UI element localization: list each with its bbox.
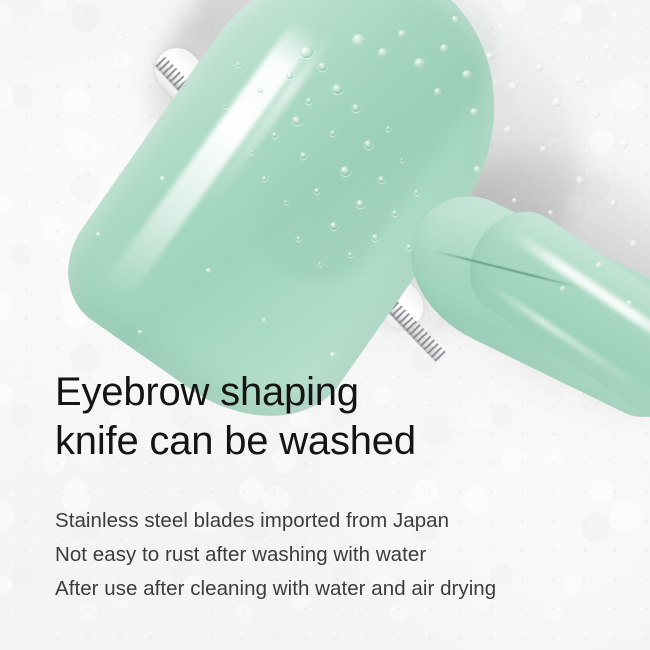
marketing-copy: Eyebrow shaping knife can be washed Stai… [55,368,615,606]
feature-list: Stainless steel blades imported from Jap… [55,504,615,606]
feature-item-1: Stainless steel blades imported from Jap… [55,504,615,538]
product-banner: Eyebrow shaping knife can be washed Stai… [0,0,650,650]
headline-line-1: Eyebrow shaping [55,368,615,417]
headline-line-2: knife can be washed [55,417,615,466]
feature-item-3: After use after cleaning with water and … [55,572,615,606]
feature-item-2: Not easy to rust after washing with wate… [55,538,615,572]
